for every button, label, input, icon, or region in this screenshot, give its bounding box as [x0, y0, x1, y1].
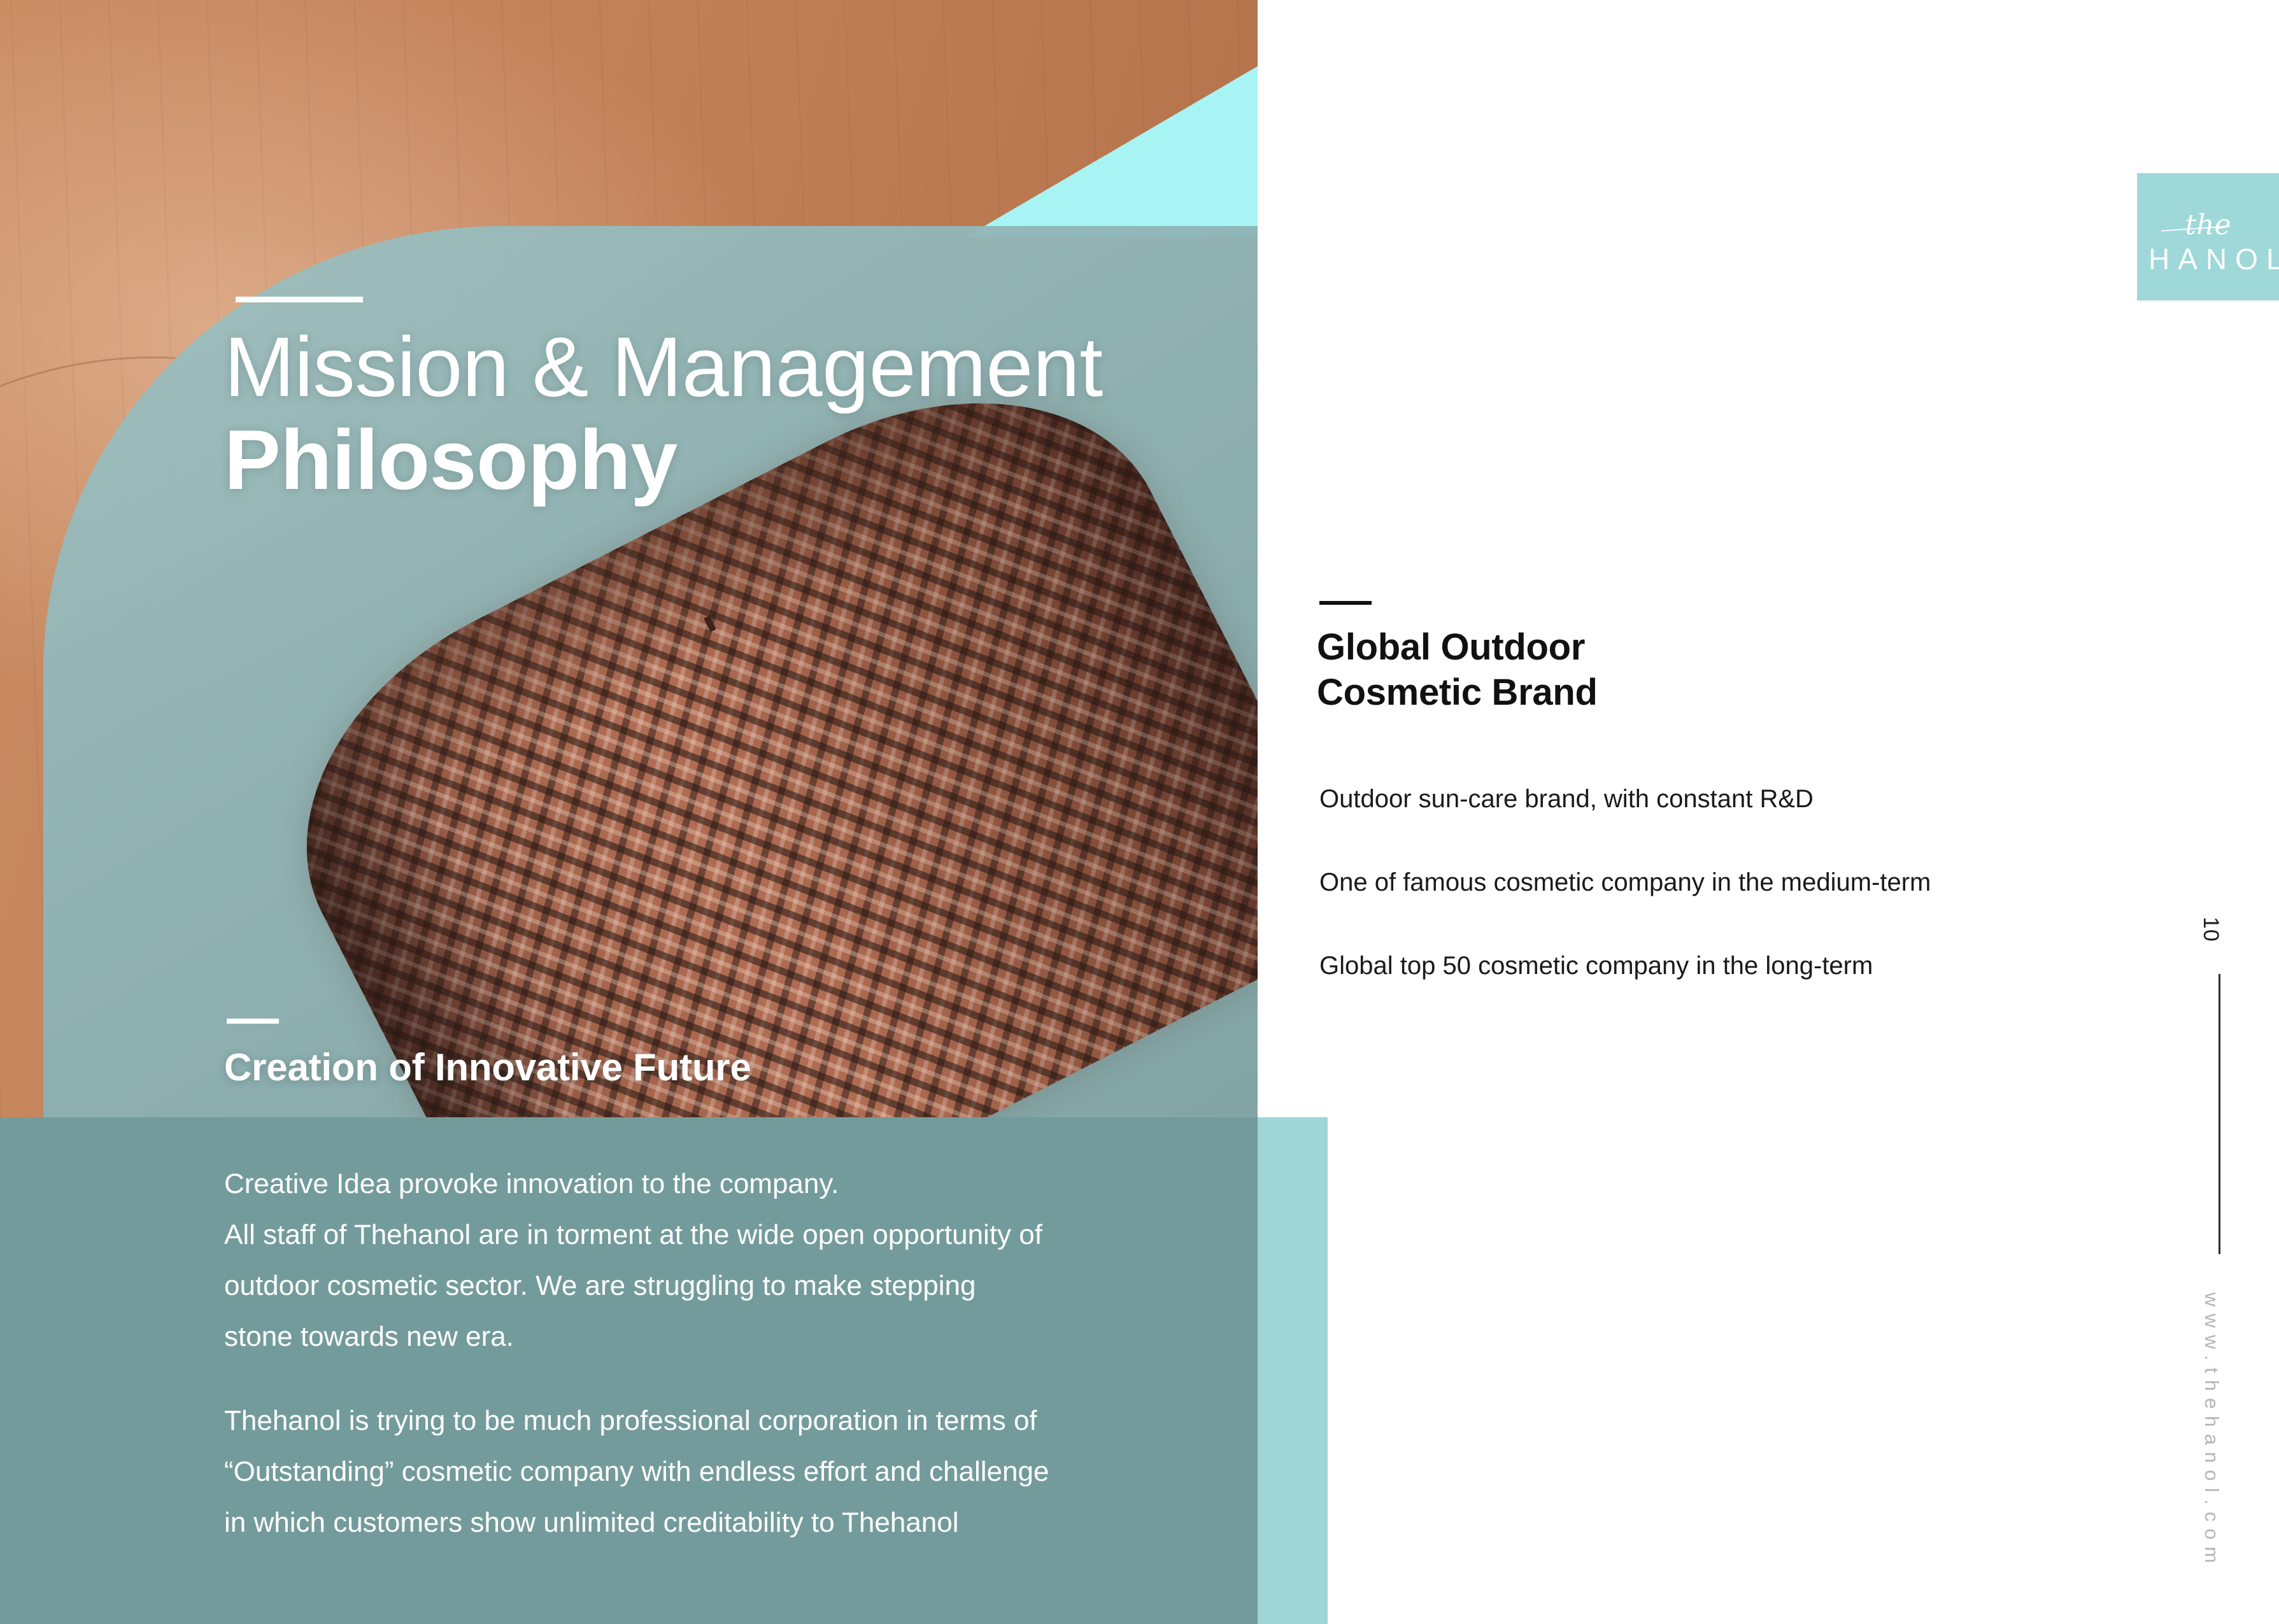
title-accent-dash	[236, 297, 363, 302]
body-line: Thehanol is trying to be much profession…	[224, 1395, 1218, 1446]
right-heading: Global Outdoor Cosmetic Brand	[1317, 625, 1598, 716]
logo-wordmark: HANOL	[2148, 244, 2279, 274]
edge-vertical-rule	[2219, 974, 2220, 1254]
logo-script-word: the	[2165, 211, 2251, 239]
body-line: in which customers show unlimited credit…	[224, 1497, 1218, 1548]
body-line: Creative Idea provoke innovation to the …	[224, 1159, 1218, 1210]
subheading-accent-dash	[227, 1019, 279, 1024]
right-heading-line-1: Global Outdoor	[1317, 625, 1598, 670]
list-item: Global top 50 cosmetic company in the lo…	[1319, 950, 2122, 982]
slide-canvas: Mission & Management Philosophy Creation…	[0, 0, 2279, 1624]
page-title: Mission & Management Philosophy	[224, 325, 1218, 504]
right-heading-line-2: Cosmetic Brand	[1317, 670, 1598, 716]
body-copy: Creative Idea provoke innovation to the …	[224, 1159, 1218, 1549]
right-heading-accent-dash	[1319, 601, 1372, 605]
list-item: Outdoor sun-care brand, with constant R&…	[1319, 783, 2122, 816]
body-line: All staff of Thehanol are in torment at …	[224, 1210, 1218, 1260]
subheading: Creation of Innovative Future	[224, 1045, 751, 1089]
website-url: www.thehanol.com	[2200, 1292, 2223, 1570]
page-number: 10	[2198, 917, 2223, 942]
body-line: stone towards new era.	[224, 1311, 1218, 1362]
hero-visual-panel	[0, 0, 1258, 1119]
page-title-line-1: Mission & Management	[224, 325, 1218, 411]
right-bullet-list: Outdoor sun-care brand, with constant R&…	[1319, 783, 2122, 983]
page-title-line-2: Philosophy	[224, 418, 1218, 504]
list-item: One of famous cosmetic company in the me…	[1319, 866, 2122, 899]
body-line: “Outstanding” cosmetic company with endl…	[224, 1446, 1218, 1497]
brand-logo: the HANOL	[2137, 173, 2279, 300]
body-panel-accent-bar	[1258, 1117, 1328, 1624]
body-line: outdoor cosmetic sector. We are struggli…	[224, 1260, 1218, 1311]
